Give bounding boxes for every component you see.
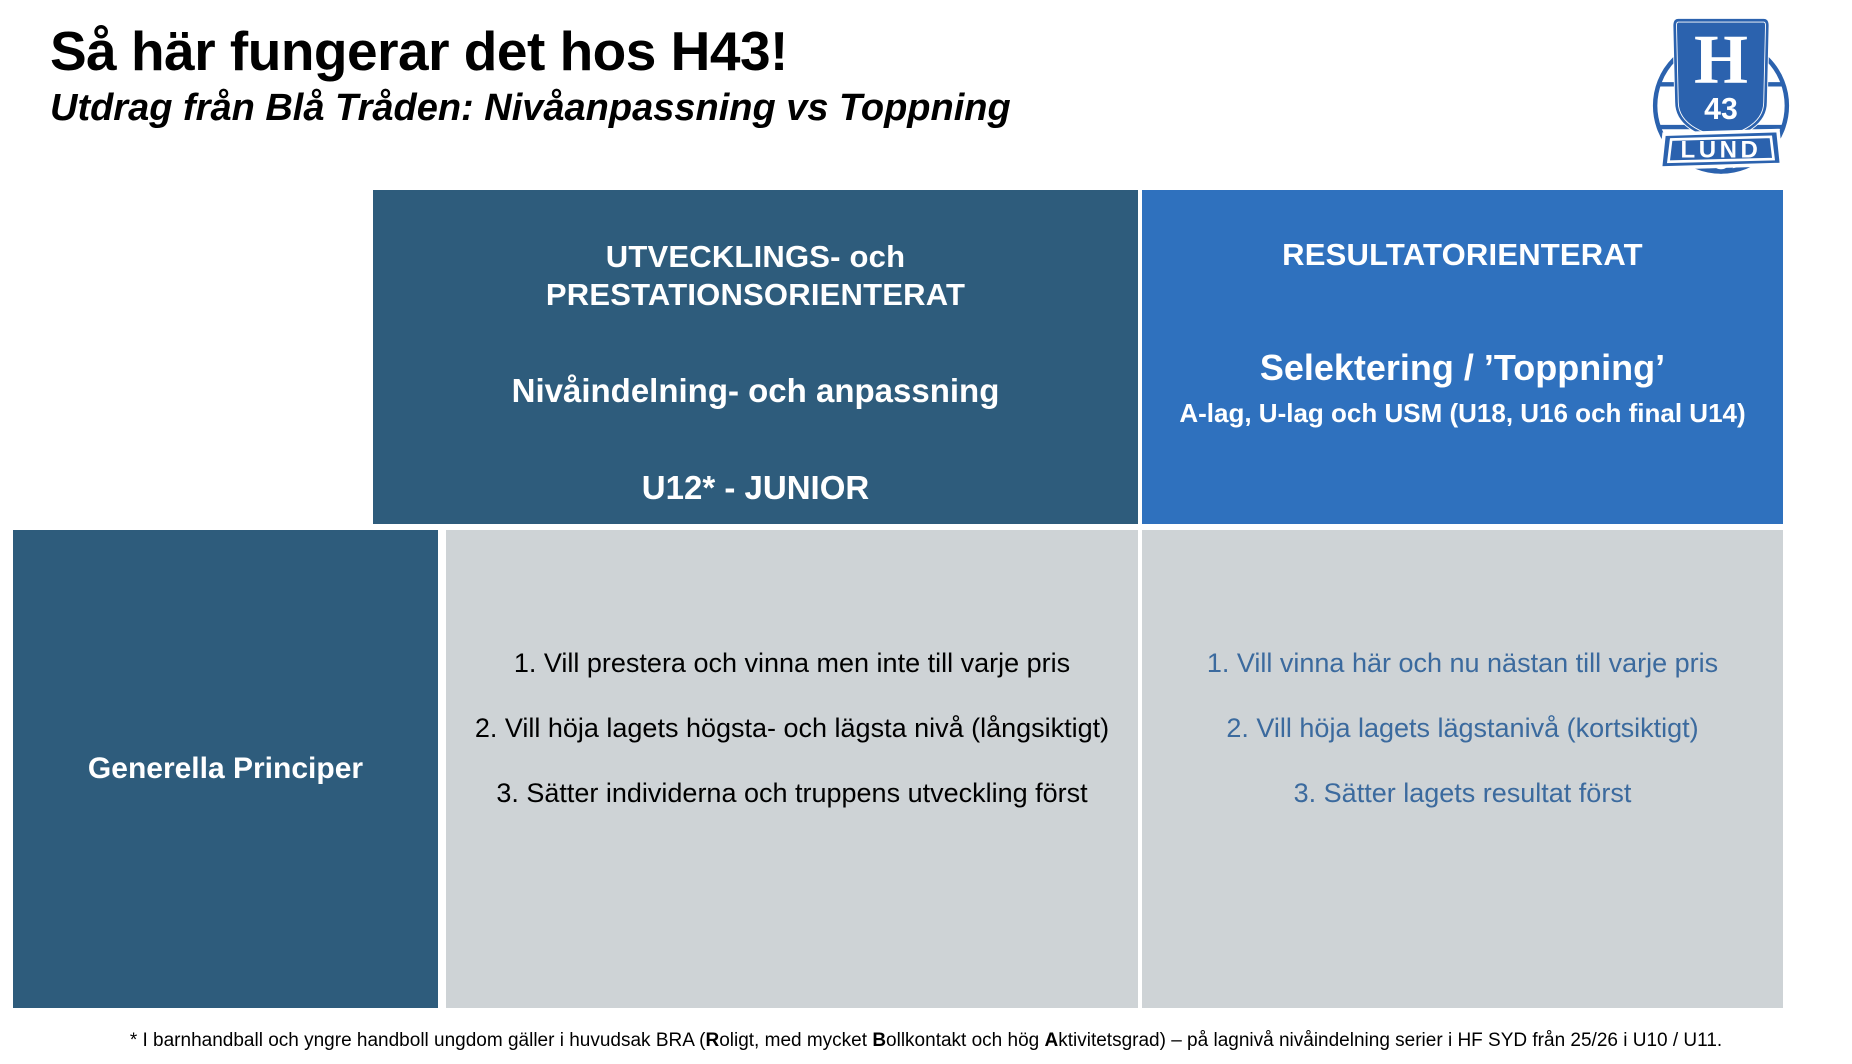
title-block: Så här fungerar det hos H43! Utdrag från… (50, 22, 1011, 131)
footnote-suffix: ktivitetsgrad) – på lagnivå nivåindelnin… (1058, 1030, 1722, 1051)
result-principle-list: 1. Vill vinna här och nu nästan till var… (1150, 650, 1775, 845)
footnote-mid1: oligt, med mycket (719, 1030, 872, 1051)
slide-header: Så här fungerar det hos H43! Utdrag från… (0, 0, 1852, 190)
matrix-header-row: UTVECKLINGS- och PRESTATIONSORIENTERAT N… (13, 190, 1783, 524)
comparison-matrix: UTVECKLINGS- och PRESTATIONSORIENTERAT N… (13, 190, 1783, 1008)
list-item: 2. Vill höja lagets högsta- och lägsta n… (454, 715, 1130, 742)
page-subtitle: Utdrag från Blå Tråden: Nivåanpassning v… (50, 87, 1011, 131)
footnote-mid2: ollkontakt och hög (886, 1030, 1044, 1051)
logo-number-43: 43 (1704, 93, 1738, 126)
row-label-generella-principer: Generella Principer (13, 530, 438, 1008)
cell-development-principles: 1. Vill prestera och vinna men inte till… (446, 530, 1138, 1008)
list-item: 1. Vill prestera och vinna men inte till… (454, 650, 1130, 677)
page-title: Så här fungerar det hos H43! (50, 22, 1011, 81)
development-kicker-line2: PRESTATIONSORIENTERAT (546, 276, 965, 314)
matrix-corner-spacer (13, 190, 371, 524)
development-principle-list: 1. Vill prestera och vinna men inte till… (454, 650, 1130, 845)
development-kicker-line1: UTVECKLINGS- och (606, 238, 905, 276)
result-team-scope: A-lag, U-lag och USM (U18, U16 och final… (1179, 398, 1745, 429)
footnote-bold-r: R (705, 1030, 719, 1051)
list-item: 3. Sätter lagets resultat först (1150, 780, 1775, 807)
result-main-title: Selektering / ’Toppning’ (1260, 346, 1665, 390)
footnote-bold-a: A (1045, 1030, 1059, 1051)
footnote-bold-b: B (872, 1030, 886, 1051)
column-header-result: RESULTATORIENTERAT Selektering / ’Toppni… (1142, 190, 1783, 524)
footnote: * I barnhandball och yngre handboll ungd… (0, 1030, 1852, 1052)
list-item: 3. Sätter individerna och truppens utvec… (454, 780, 1130, 807)
matrix-body-row: Generella Principer 1. Vill prestera och… (13, 530, 1783, 1008)
development-age-range: U12* - JUNIOR (642, 468, 869, 508)
result-kicker: RESULTATORIENTERAT (1282, 236, 1643, 274)
column-header-development: UTVECKLINGS- och PRESTATIONSORIENTERAT N… (373, 190, 1138, 524)
list-item: 2. Vill höja lagets lägstanivå (kortsikt… (1150, 715, 1775, 742)
footnote-prefix: * I barnhandball och yngre handboll ungd… (130, 1030, 706, 1051)
list-item: 1. Vill vinna här och nu nästan till var… (1150, 650, 1775, 677)
logo-banner-lund: LUND (1681, 136, 1762, 163)
logo-letter-h: H (1694, 22, 1748, 99)
h43-lund-logo: H 43 LUND (1632, 6, 1810, 184)
development-main-title: Nivåindelning- och anpassning (512, 371, 1000, 411)
cell-result-principles: 1. Vill vinna här och nu nästan till var… (1142, 530, 1783, 1008)
